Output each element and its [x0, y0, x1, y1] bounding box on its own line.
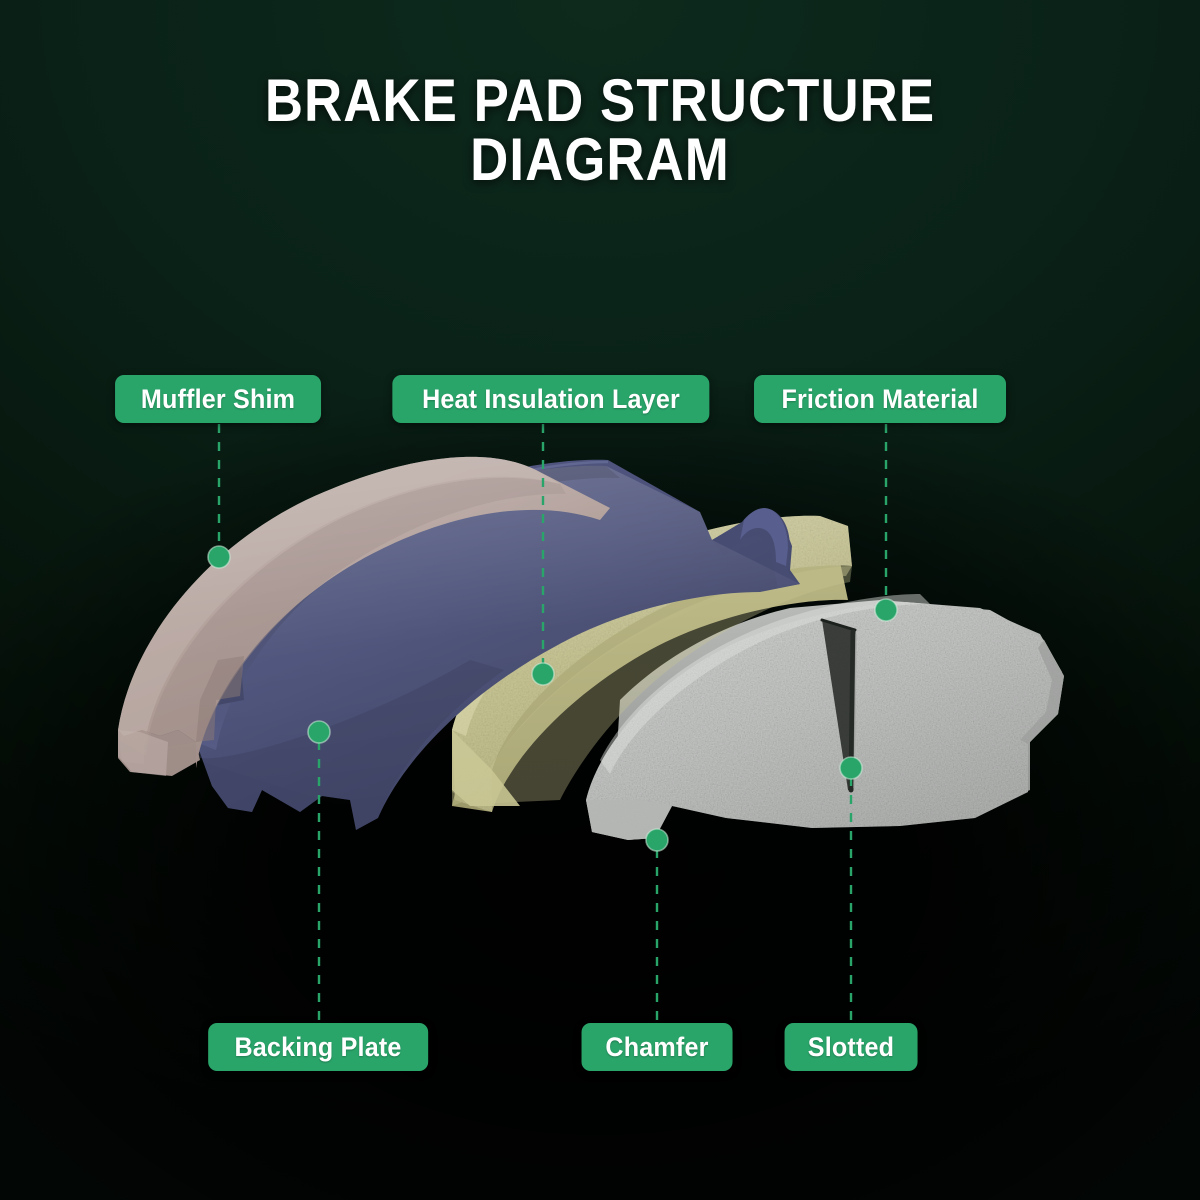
brake-pad-illustration — [0, 0, 1200, 1200]
callout-label-text-backing-plate: Backing Plate — [234, 1032, 401, 1063]
callout-label-chamfer[interactable]: Chamfer — [582, 1023, 733, 1071]
callout-label-backing-plate[interactable]: Backing Plate — [208, 1023, 428, 1071]
callout-dot-backing-plate[interactable] — [308, 721, 330, 743]
callout-label-text-slotted: Slotted — [808, 1032, 894, 1063]
callout-dot-friction-material[interactable] — [875, 599, 897, 621]
callout-dot-chamfer[interactable] — [646, 829, 668, 851]
callout-dot-heat-insulation-layer[interactable] — [532, 663, 554, 685]
callout-label-muffler-shim[interactable]: Muffler Shim — [115, 375, 321, 423]
callout-dot-slotted[interactable] — [840, 757, 862, 779]
callout-label-slotted[interactable]: Slotted — [785, 1023, 918, 1071]
callout-label-text-muffler-shim: Muffler Shim — [141, 384, 295, 415]
callout-label-heat-insulation-layer[interactable]: Heat Insulation Layer — [392, 375, 709, 423]
diagram-canvas: BRAKE PAD STRUCTURE DIAGRAM — [0, 0, 1200, 1200]
callout-label-text-heat-insulation-layer: Heat Insulation Layer — [422, 384, 680, 415]
callout-label-friction-material[interactable]: Friction Material — [754, 375, 1006, 423]
callout-dot-muffler-shim[interactable] — [208, 546, 230, 568]
callout-label-text-friction-material: Friction Material — [781, 384, 978, 415]
callout-label-text-chamfer: Chamfer — [605, 1032, 708, 1063]
